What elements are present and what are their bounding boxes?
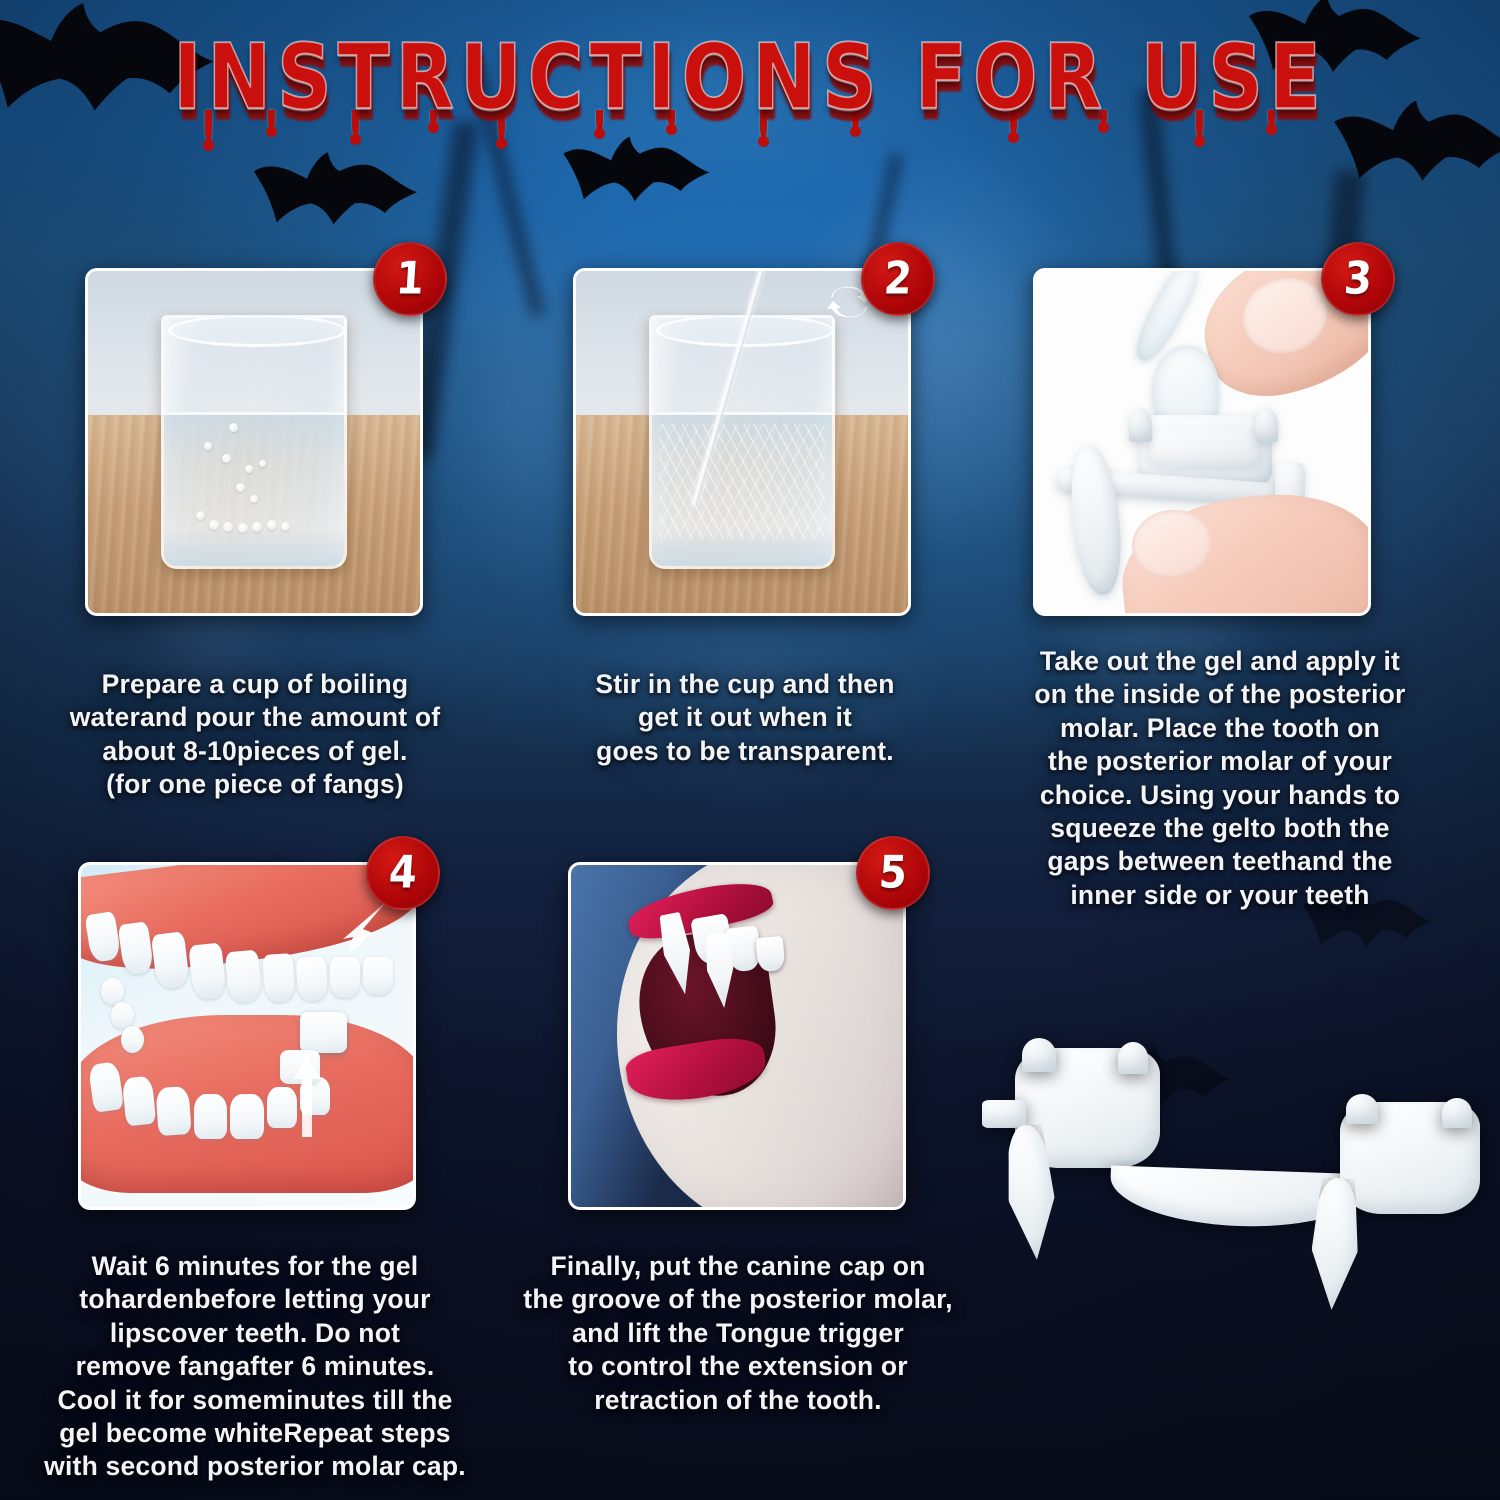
- step-3: 3: [1033, 268, 1371, 616]
- upper-tooth: [188, 942, 227, 1000]
- step-1-badge: 1: [373, 242, 447, 316]
- lower-tooth: [230, 1094, 263, 1138]
- drinking-glass: [161, 315, 347, 568]
- step-4-number: 4: [387, 847, 418, 899]
- gel-application-scene: [1036, 271, 1368, 613]
- step-3-badge: 3: [1321, 242, 1395, 316]
- step-5: 5: [568, 862, 906, 1210]
- cap-prong: [1022, 1038, 1056, 1072]
- cap-prong: [1442, 1098, 1472, 1128]
- step-3-photo[interactable]: [1033, 268, 1371, 616]
- water: [164, 412, 344, 565]
- arrow-up-icon: [287, 1053, 327, 1139]
- product-image: [960, 1020, 1480, 1320]
- step-3-caption: Take out the gel and apply it on the ins…: [985, 645, 1455, 912]
- step-2: 2: [573, 268, 911, 616]
- inner-molar: [121, 1026, 144, 1053]
- lower-tooth: [156, 1086, 192, 1136]
- glass-scene: [576, 271, 908, 613]
- cap-side-tab: [982, 1100, 1026, 1128]
- step-5-caption: Finally, put the canine cap on the groov…: [498, 1250, 978, 1417]
- step-3-number: 3: [1342, 253, 1373, 305]
- instruction-poster: INSTRUCTIONS FOR USE: [0, 0, 1500, 1500]
- cap-prong-left: [1129, 408, 1152, 442]
- canine-fang: [1065, 443, 1127, 598]
- vampire-mouth-scene: [571, 865, 903, 1207]
- step-2-badge: 2: [861, 242, 935, 316]
- upper-tooth: [262, 953, 295, 1003]
- upper-tooth: [225, 949, 263, 1003]
- page-title: INSTRUCTIONS FOR USE: [173, 24, 1327, 129]
- step-1-photo[interactable]: [85, 268, 423, 616]
- upper-tooth: [151, 932, 191, 990]
- step-4-badge: 4: [366, 836, 440, 910]
- step-1-caption: Prepare a cup of boiling waterand pour t…: [40, 668, 470, 802]
- applied-molar-cap: [300, 1012, 346, 1053]
- step-4-caption: Wait 6 minutes for the gel tohardenbefor…: [30, 1250, 480, 1484]
- step-2-number: 2: [882, 253, 913, 305]
- bat-icon: [250, 140, 440, 248]
- dissolved-gel-strands: [659, 424, 825, 538]
- cap-prong: [1346, 1094, 1378, 1124]
- step-2-caption: Stir in the cup and then get it out when…: [530, 668, 960, 768]
- step-1: 1: [85, 268, 423, 616]
- step-1-number: 1: [394, 253, 425, 305]
- dental-model-scene: [81, 865, 413, 1207]
- glass-scene: [88, 271, 420, 613]
- page-title-container: INSTRUCTIONS FOR USE: [0, 32, 1500, 121]
- step-4-photo[interactable]: [78, 862, 416, 1210]
- cap-prong-right: [1255, 408, 1278, 442]
- step-5-badge: 5: [856, 836, 930, 910]
- step-4: 4: [78, 862, 416, 1210]
- arrow-down-icon: [323, 899, 393, 967]
- lower-tooth: [194, 1094, 227, 1138]
- drinking-glass: [649, 315, 835, 568]
- incisor: [755, 936, 784, 972]
- step-5-photo[interactable]: [568, 862, 906, 1210]
- step-5-number: 5: [877, 847, 908, 899]
- water: [652, 412, 832, 565]
- cap-prong: [1118, 1042, 1148, 1074]
- molar-cap-ridge: [1149, 428, 1262, 469]
- step-2-photo[interactable]: [573, 268, 911, 616]
